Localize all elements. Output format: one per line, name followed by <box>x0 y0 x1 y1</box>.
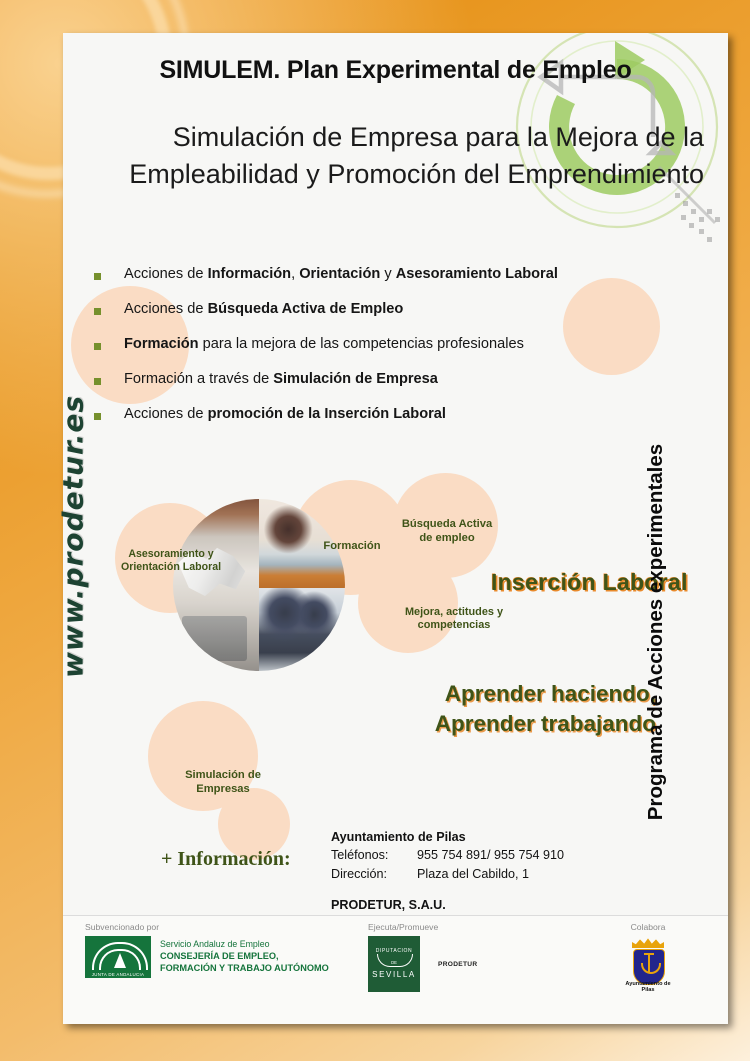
photo-collage-circle <box>173 499 345 671</box>
bullet-square-icon <box>94 378 101 385</box>
list-item-label: Acciones de Búsqueda Activa de Empleo <box>124 301 403 319</box>
junta-line-2: CONSEJERÍA DE EMPLEO, <box>160 951 329 963</box>
collage-label-mejora: Mejora, actitudes y competencias <box>383 606 525 633</box>
pilas-shield <box>633 949 665 985</box>
poster-page: SIMULEM. Plan Experimental de Empleo Sim… <box>63 33 728 1024</box>
vertical-program-label: Programa de Acciones experimentales <box>644 372 668 892</box>
contact-phone-key: Teléfonos: <box>331 846 417 864</box>
diputacion-logo-group: DIPUTACION DE SEVILLA PRODETUR <box>368 936 477 992</box>
bullet-square-icon <box>94 343 101 350</box>
pilas-anchor-top <box>644 953 654 955</box>
footer-caption-colabora: Colabora <box>608 922 688 932</box>
junta-andalucia-logo-icon: JUNTA DE ANDALUCIA <box>85 936 151 978</box>
list-item: Formación a través de Simulación de Empr… <box>94 371 694 389</box>
bullet-square-icon <box>94 308 101 315</box>
diputacion-line-3: SEVILLA <box>368 970 420 979</box>
pilas-anchor-bottom <box>641 963 661 974</box>
footer-caption-ejecuta: Ejecuta/Promueve <box>368 922 477 932</box>
collage-label-busqueda: Búsqueda Activa de empleo <box>401 518 493 545</box>
collage-label-orientacion: Asesoramiento y Orientación Laboral <box>110 548 232 574</box>
list-item-label: Formación a través de Simulación de Empr… <box>124 371 438 389</box>
list-item-label: Formación para la mejora de las competen… <box>124 336 524 354</box>
actions-list: Acciones de Información, Orientación y A… <box>94 266 694 441</box>
contact-address-row: Dirección: Plaza del Cabildo, 1 <box>331 865 661 883</box>
collage-label-simulacion: Simulación de Empresas <box>163 769 283 796</box>
ayuntamiento-pilas-logo-icon: Ayuntamiento de Pilas <box>620 936 676 992</box>
collage-label-formacion: Formación <box>309 540 395 554</box>
poster: SIMULEM. Plan Experimental de Empleo Sim… <box>0 0 750 1061</box>
junta-logo-text: Servicio Andaluz de Empleo CONSEJERÍA DE… <box>160 939 329 974</box>
junta-line-1: Servicio Andaluz de Empleo <box>160 939 329 950</box>
poster-subtitle: Simulación de Empresa para la Mejora de … <box>92 119 704 194</box>
junta-triangle <box>114 953 126 968</box>
footer-logos: Subvencionado por JUNTA DE ANDALUCIA Ser… <box>63 915 728 1024</box>
poster-main-title: SIMULEM. Plan Experimental de Empleo <box>63 56 728 85</box>
photo-overlay <box>173 499 345 671</box>
junta-andalucia-logo-group: JUNTA DE ANDALUCIA Servicio Andaluz de E… <box>85 936 329 978</box>
diputacion-sevilla-logo-icon: DIPUTACION DE SEVILLA <box>368 936 420 992</box>
footer-col-ejecuta: Ejecuta/Promueve DIPUTACION DE SEVILLA P… <box>368 922 477 992</box>
list-item: Acciones de Búsqueda Activa de Empleo <box>94 301 694 319</box>
junta-line-3: FORMACIÓN Y TRABAJO AUTÓNOMO <box>160 963 329 975</box>
contact-phone-value: 955 754 891/ 955 754 910 <box>417 846 564 864</box>
highlight-aprender-slogan: Aprender haciendo, Aprender trabajando <box>356 679 656 738</box>
contact-address-value: Plaza del Cabildo, 1 <box>417 865 529 883</box>
diputacion-line-2: DE <box>368 960 420 965</box>
prodetur-label: PRODETUR <box>438 961 477 968</box>
contact-org-prodetur: PRODETUR, S.A.U. <box>331 896 661 914</box>
pilas-crown <box>632 938 664 948</box>
junta-logo-caption: JUNTA DE ANDALUCIA <box>85 972 151 978</box>
contact-org-ayuntamiento: Ayuntamiento de Pilas <box>331 828 661 846</box>
mas-informacion-label: + Información: <box>161 848 291 871</box>
list-item: Formación para la mejora de las competen… <box>94 336 694 354</box>
spacer <box>331 883 661 896</box>
contact-address-key: Dirección: <box>331 865 417 883</box>
list-item: Acciones de promoción de la Inserción La… <box>94 406 694 424</box>
list-item: Acciones de Información, Orientación y A… <box>94 266 694 284</box>
bullet-square-icon <box>94 413 101 420</box>
footer-col-colabora: Colabora Ayuntamiento de Pilas <box>608 922 688 992</box>
list-item-label: Acciones de promoción de la Inserción La… <box>124 406 446 424</box>
decorative-circle-mejora <box>358 553 458 653</box>
list-item-label: Acciones de Información, Orientación y A… <box>124 266 558 284</box>
vertical-website-url[interactable]: www.prodetur.es <box>57 387 90 687</box>
bullet-square-icon <box>94 273 101 280</box>
footer-caption-subvencionado: Subvencionado por <box>85 922 329 932</box>
pilas-caption: Ayuntamiento de Pilas <box>620 981 676 993</box>
contact-phone-row: Teléfonos: 955 754 891/ 955 754 910 <box>331 846 661 864</box>
footer-col-subvencionado: Subvencionado por JUNTA DE ANDALUCIA Ser… <box>85 922 329 978</box>
